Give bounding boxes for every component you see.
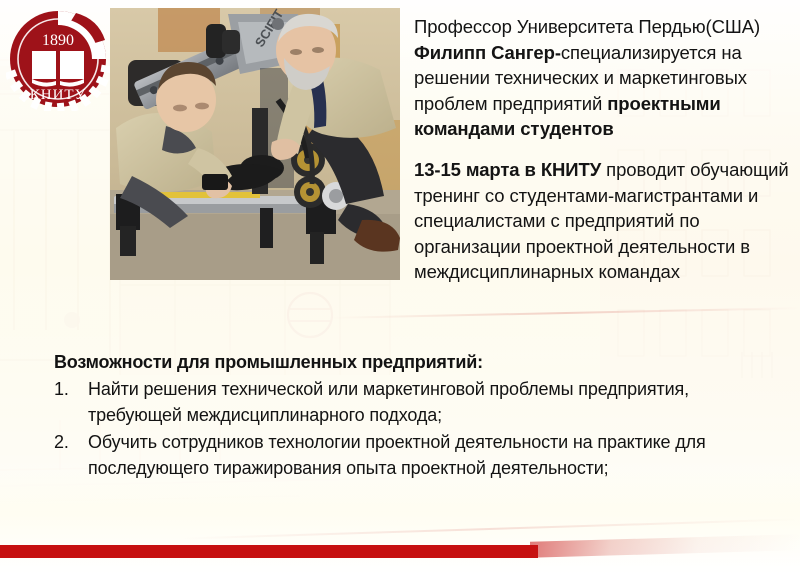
- presentation-slide: 1890 КНИТУ: [0, 0, 800, 574]
- logo-year-text: 1890: [42, 32, 74, 49]
- list-item-text: Обучить сотрудников технологии проектной…: [88, 432, 706, 478]
- opportunities-title: Возможности для промышленных предприятий…: [54, 350, 774, 374]
- list-item: 1.Найти решения технической или маркетин…: [54, 376, 774, 428]
- right-text-column: Профессор Университета Пердью(США) Филип…: [414, 14, 792, 285]
- paragraph-professor: Профессор Университета Пердью(США) Филип…: [414, 14, 792, 142]
- para1-run2-bold: Филипп Сангер-: [414, 42, 561, 63]
- list-item: 2.Обучить сотрудников технологии проектн…: [54, 429, 774, 481]
- logo-abbr-text: КНИТУ: [30, 87, 86, 103]
- list-item-number: 2.: [54, 429, 80, 455]
- workshop-photo: SCIFIT: [110, 8, 400, 280]
- opportunities-list: 1.Найти решения технической или маркетин…: [54, 376, 774, 481]
- red-accent-bar: [0, 545, 538, 558]
- para2-run1-bold: 13-15 марта в КНИТУ: [414, 159, 606, 180]
- list-item-text: Найти решения технической или маркетинго…: [88, 379, 689, 425]
- para1-run1: Профессор Университета Пердью(США): [414, 16, 760, 37]
- paragraph-training: 13-15 марта в КНИТУ проводит обучающий т…: [414, 157, 792, 285]
- knitu-logo: 1890 КНИТУ: [6, 7, 110, 111]
- list-item-number: 1.: [54, 376, 80, 402]
- opportunities-block: Возможности для промышленных предприятий…: [54, 350, 774, 482]
